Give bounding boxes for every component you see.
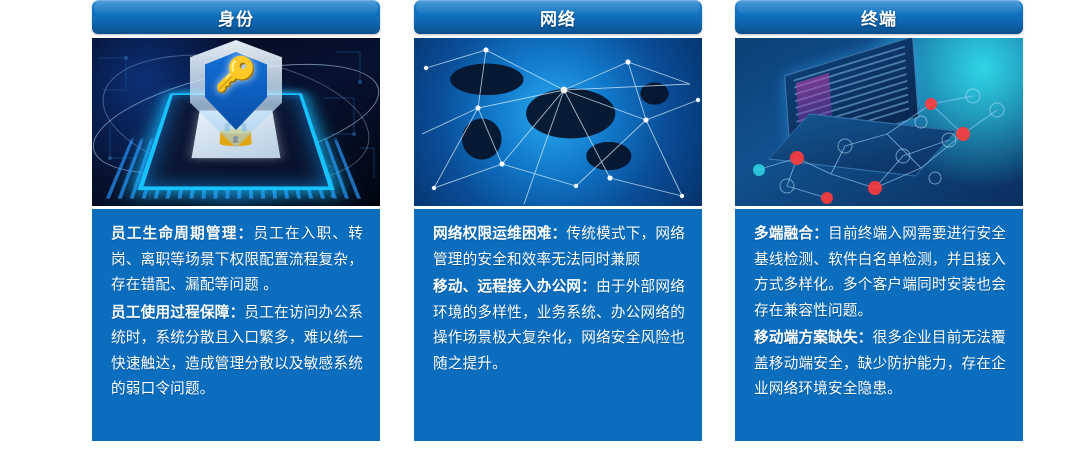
card-endpoint-image (735, 38, 1023, 206)
card-endpoint-body: 多端融合：目前终端入网需要进行安全基线检测、软件白名单检测，并且接入方式多样化。… (735, 209, 1023, 441)
card-endpoint-title: 终端 (861, 5, 897, 30)
card-network[interactable]: 网络 (414, 0, 702, 441)
card-endpoint-paragraph-1: 多端融合：目前终端入网需要进行安全基线检测、软件白名单检测，并且接入方式多样化。… (754, 222, 1006, 324)
card-identity-paragraph-2: 员工使用过程保障：员工在访问办公系统时，系统分散且入口繁多，难以统一快速触达，造… (111, 301, 363, 403)
card-network-paragraph-1: 网络权限运维困难：传统模式下，网络管理的安全和效率无法同时兼顾 (433, 222, 685, 273)
card-identity-paragraph-1: 员工生命周期管理：员工在入职、转岗、离职等场景下权限配置流程复杂，存在错配、漏配… (111, 222, 363, 299)
paragraph-lead: 网络权限运维困难： (433, 226, 566, 242)
card-network-header[interactable]: 网络 (414, 0, 702, 34)
paragraph-lead: 移动端方案缺失： (754, 330, 873, 346)
card-network-title: 网络 (540, 5, 576, 30)
laptop-endpoint-security-icon (735, 38, 1023, 206)
endpoint-node-mesh-icon (735, 38, 1023, 206)
card-network-image (414, 38, 702, 206)
paragraph-lead: 移动、远程接入办公网： (433, 279, 596, 295)
card-identity-image: 🔒 🔑 (92, 38, 380, 206)
paragraph-lead: 多端融合： (754, 226, 828, 242)
card-endpoint[interactable]: 终端 (735, 0, 1023, 441)
card-network-paragraph-2: 移动、远程接入办公网：由于外部网络环境的多样性，业务系统、办公网络的操作场景极大… (433, 275, 685, 377)
card-identity-body: 员工生命周期管理：员工在入职、转岗、离职等场景下权限配置流程复杂，存在错配、漏配… (92, 209, 380, 441)
three-pillar-card-board: 身份 (0, 0, 1080, 454)
card-identity[interactable]: 身份 (92, 0, 380, 441)
card-identity-title: 身份 (218, 5, 254, 30)
card-endpoint-paragraph-2: 移动端方案缺失：很多企业目前无法覆盖移动端安全，缺少防护能力，存在企业网络环境安… (754, 326, 1006, 403)
network-mesh-icon (414, 38, 702, 206)
card-endpoint-header[interactable]: 终端 (735, 0, 1023, 34)
card-identity-header[interactable]: 身份 (92, 0, 380, 34)
paragraph-lead: 员工生命周期管理： (111, 226, 253, 242)
key-icon: 🔑 (215, 58, 257, 92)
chip-shield-key-icon: 🔒 🔑 (92, 38, 380, 206)
card-network-body: 网络权限运维困难：传统模式下，网络管理的安全和效率无法同时兼顾 移动、远程接入办… (414, 209, 702, 441)
paragraph-lead: 员工使用过程保障： (111, 305, 244, 321)
world-map-network-icon (414, 38, 702, 206)
